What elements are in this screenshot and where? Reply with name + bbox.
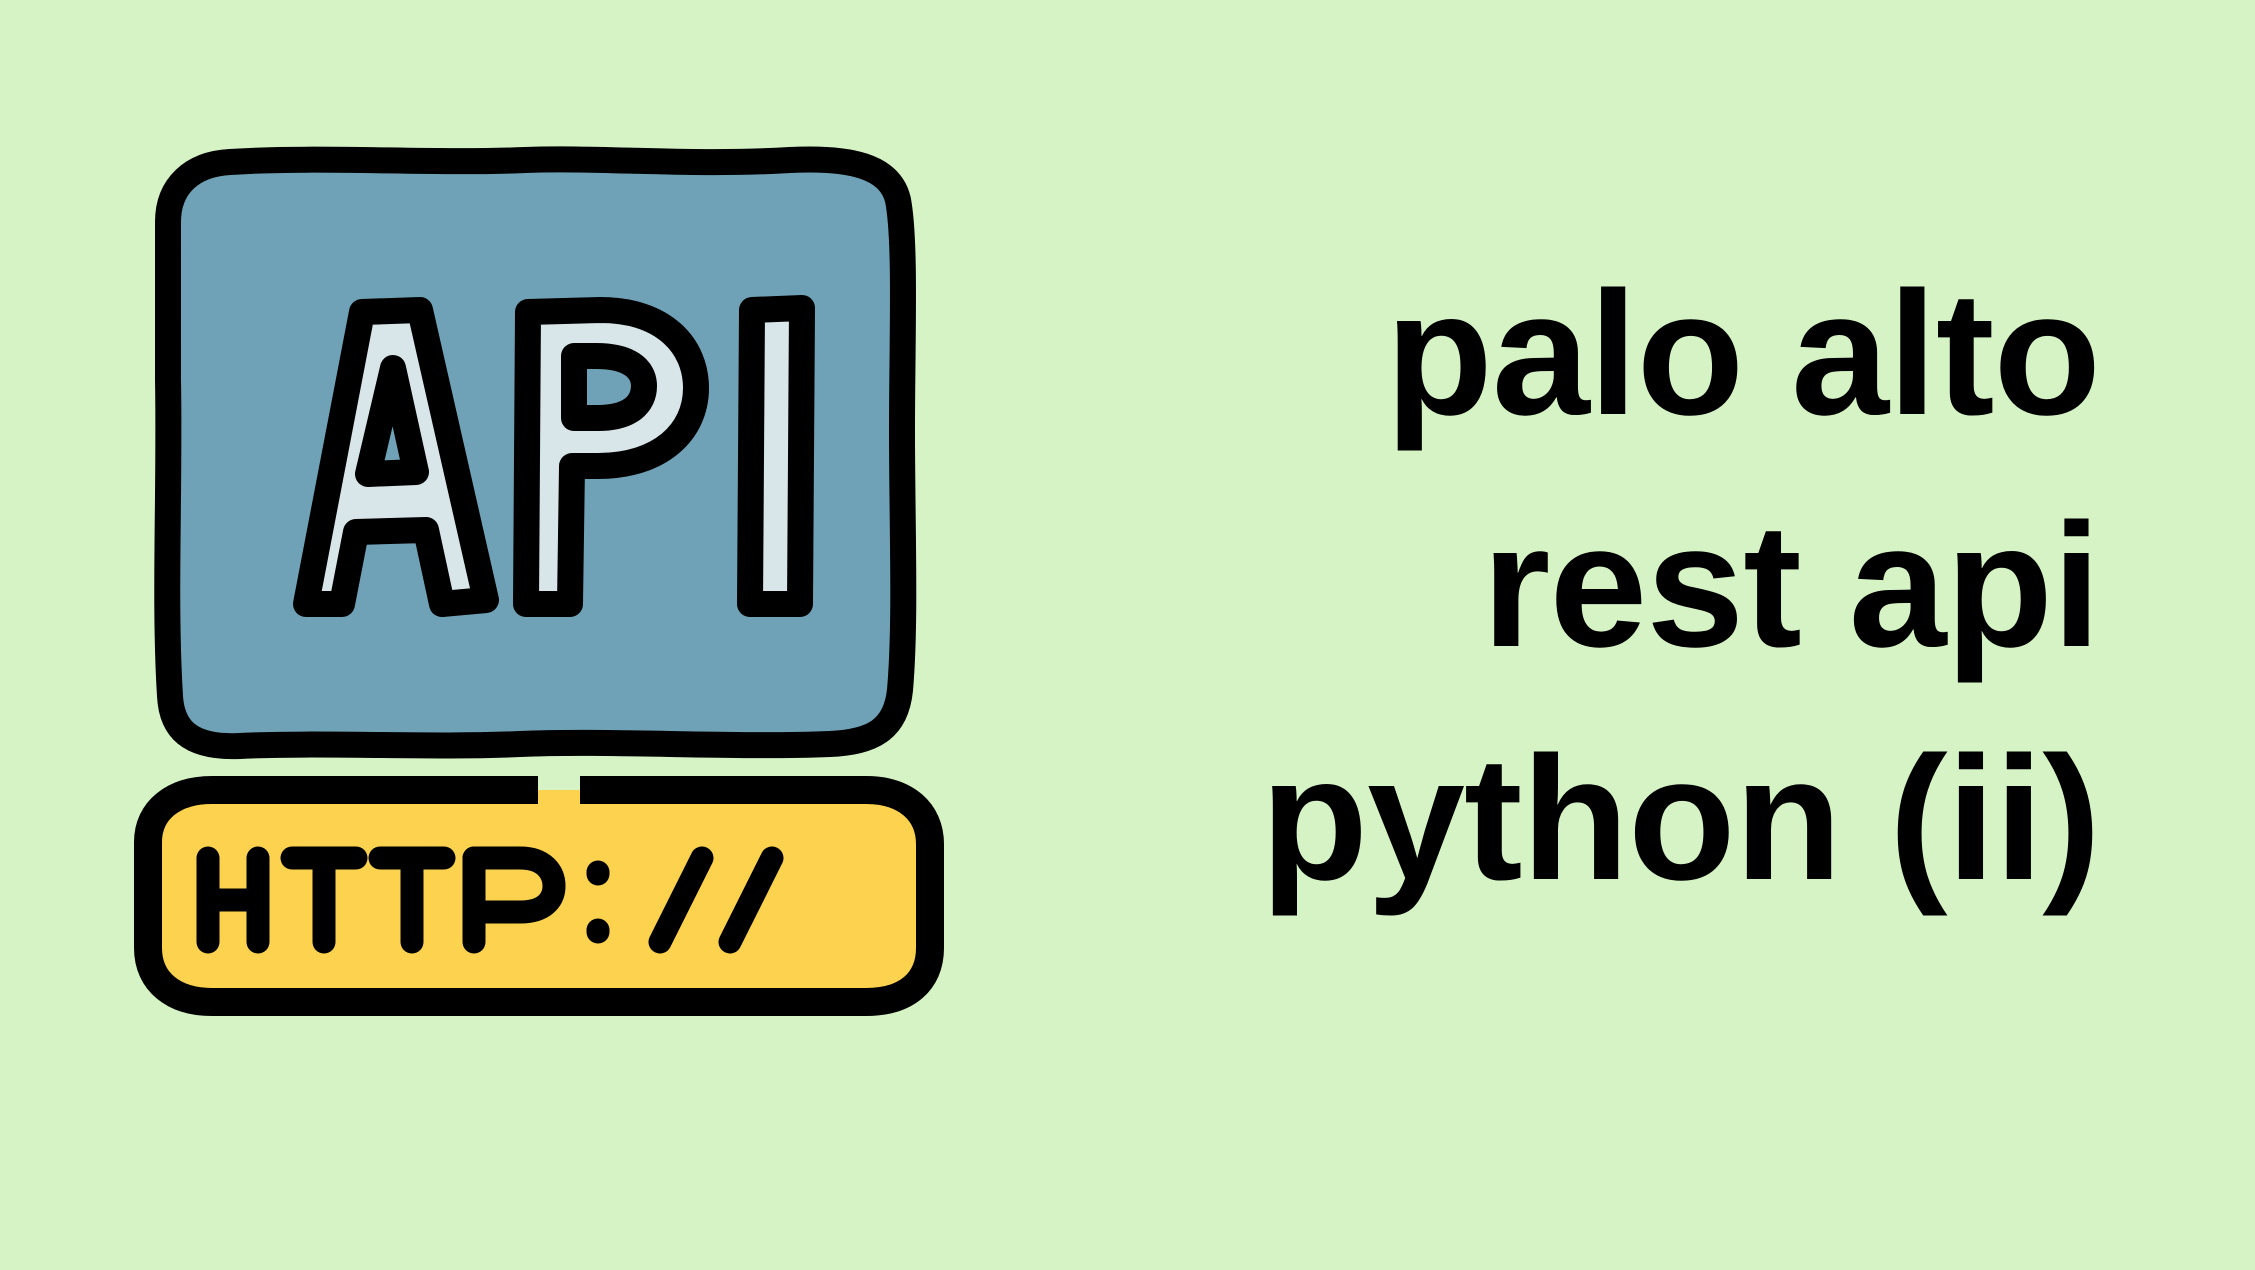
api-http-icon	[130, 130, 950, 1020]
http-badge-group	[148, 776, 930, 1002]
title-line-1: palo alto	[1000, 238, 2100, 470]
title-line-2: rest api	[1000, 470, 2100, 702]
post-title: palo alto rest api python (ii)	[1000, 238, 2100, 935]
api-http-illustration-svg	[130, 130, 950, 1020]
title-card: palo alto rest api python (ii)	[0, 0, 2255, 1270]
api-letter-i	[750, 308, 802, 604]
http-badge-notch-fill	[538, 790, 580, 820]
title-line-3: python (ii)	[1000, 703, 2100, 935]
